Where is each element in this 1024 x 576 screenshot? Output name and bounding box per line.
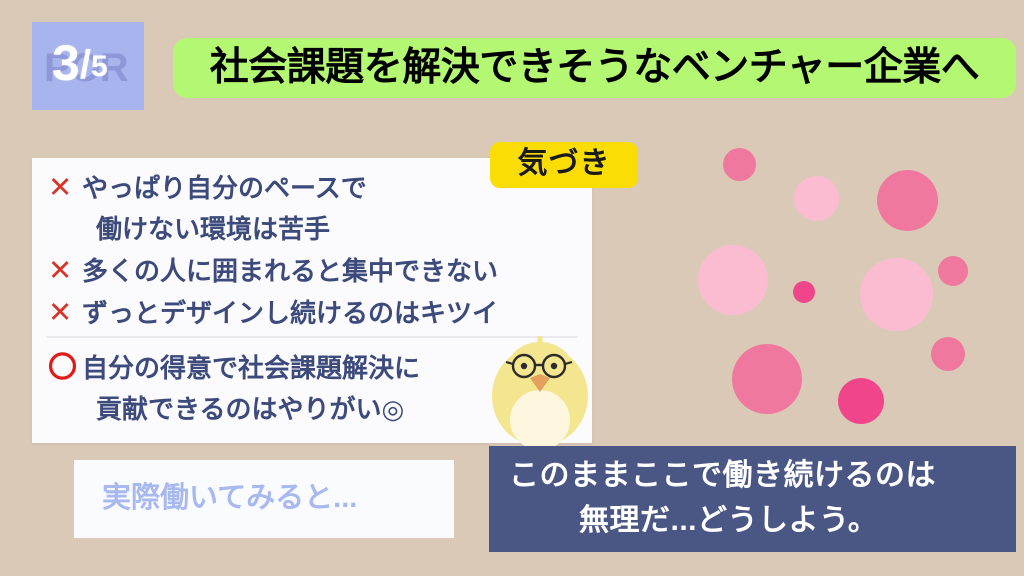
- badge-current-page: 3: [52, 35, 80, 91]
- list-item-line: ずっとデザインし続けるのはキツイ: [82, 293, 588, 334]
- cons-list: ✕やっぱり自分のペースで働けない環境は苦手✕多くの人に囲まれると集中できない✕ず…: [48, 168, 588, 335]
- decorative-circle: [931, 337, 965, 371]
- decorative-circle: [698, 245, 768, 315]
- badge-separator: /: [80, 43, 91, 87]
- cross-mark-icon: ✕: [48, 293, 82, 334]
- cross-mark-icon: ✕: [48, 168, 82, 209]
- cross-mark-icon: ✕: [48, 251, 82, 292]
- decorative-circle: [793, 281, 815, 303]
- decorative-circle: [732, 344, 802, 414]
- quote-box: このままここで働き続けるのは 無理だ...どうしよう。: [489, 446, 1016, 552]
- list-item-line: 多くの人に囲まれると集中できない: [82, 251, 588, 292]
- quote-line-2: 無理だ...どうしよう。: [489, 498, 1016, 543]
- glasses-chick-icon: [480, 334, 600, 446]
- list-item-line: 働けない環境は苦手: [82, 209, 588, 250]
- page-number-badge: POR 3/5: [32, 22, 144, 110]
- caption-box: 実際働いてみると...: [74, 460, 454, 538]
- insight-tag: 気づき: [490, 142, 638, 188]
- page-title: 社会課題を解決できそうなベンチャー企業へ: [210, 48, 980, 87]
- slide-canvas: POR 3/5 社会課題を解決できそうなベンチャー企業へ 気づき ✕やっぱり自分…: [0, 0, 1024, 576]
- list-item: ✕多くの人に囲まれると集中できない: [48, 251, 588, 292]
- decorative-circle: [838, 378, 884, 424]
- list-item: ✕ずっとデザインし続けるのはキツイ: [48, 293, 588, 334]
- title-banner: 社会課題を解決できそうなベンチャー企業へ: [173, 38, 1016, 98]
- decorative-circle: [877, 170, 938, 231]
- list-item-text: ずっとデザインし続けるのはキツイ: [82, 293, 588, 334]
- quote-line-1: このままここで働き続けるのは: [489, 453, 1016, 498]
- badge-total-pages: 5: [91, 50, 108, 83]
- decorative-circle: [860, 258, 933, 331]
- insight-tag-label: 気づき: [518, 149, 611, 179]
- circle-mark-icon: 〇: [48, 348, 82, 389]
- caption-text: 実際働いてみると...: [74, 483, 357, 515]
- list-item-text: 多くの人に囲まれると集中できない: [82, 251, 588, 292]
- badge-number-group: 3/5: [52, 38, 108, 88]
- decorative-circle: [938, 256, 968, 286]
- decorative-circle: [794, 176, 839, 221]
- decorative-circle: [723, 148, 756, 181]
